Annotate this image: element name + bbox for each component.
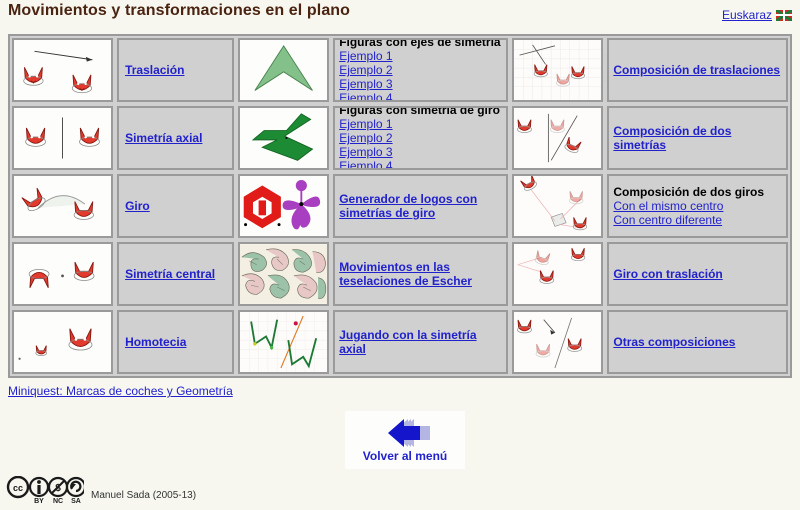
cell-text-dos-giros: Composición de dos giros Con el mismo ce…	[607, 174, 788, 238]
author-credit: Manuel Sada (2005-13)	[91, 490, 196, 504]
green-chevron-figure	[240, 40, 327, 100]
link-giro[interactable]: Giro	[125, 199, 150, 213]
table-row: Simetría axial Figuras con simetría de g…	[10, 104, 790, 172]
composition-translations-foxes	[514, 40, 601, 100]
link-traslacion[interactable]: Traslación	[125, 63, 184, 77]
cell-label-homotecia[interactable]: Homotecia	[117, 310, 234, 374]
green-arrows-axial-line	[240, 312, 327, 372]
heading-composicion-dos-giros: Composición de dos giros	[613, 185, 782, 199]
rotation-foxes-arc	[14, 176, 111, 236]
link-generador-logos[interactable]: Generador de logos con simetrías de giro	[339, 192, 502, 220]
page-title: Movimientos y transformaciones en el pla…	[8, 2, 350, 20]
link-composicion-dos-simetrias[interactable]: Composición de dos simetrías	[613, 124, 782, 152]
cell-image-generador-logos[interactable]	[238, 174, 329, 238]
link-ejemplo-1[interactable]: Ejemplo 1	[339, 49, 502, 63]
svg-text:SA: SA	[71, 498, 81, 504]
table-row: Simetría central	[10, 240, 790, 308]
link-ejemplo-2[interactable]: Ejemplo 2	[339, 63, 502, 77]
cell-text-dos-simetrias[interactable]: Composición de dos simetrías	[607, 106, 788, 170]
cell-image-giro[interactable]	[12, 174, 113, 238]
table-row: Homotecia Jugando con la simetría axial	[10, 308, 790, 376]
two-rotations-foxes	[514, 176, 601, 236]
link-ejemplo-4[interactable]: Ejemplo 4	[339, 91, 502, 102]
back-to-menu-button[interactable]: Volver al menú	[345, 411, 465, 469]
miniquest-link[interactable]: Miniquest: Marcas de coches y Geometría	[8, 384, 233, 398]
cell-image-traslacion[interactable]	[12, 38, 113, 102]
cell-label-simetria-axial[interactable]: Simetría axial	[117, 106, 234, 170]
central-symmetry-foxes	[14, 244, 111, 304]
red-logo-purple-pinwheel	[240, 176, 327, 236]
two-symmetries-foxes	[514, 108, 601, 168]
cell-text-giro-traslacion[interactable]: Giro con traslación	[607, 242, 788, 306]
creative-commons-by-nc-sa-icon[interactable]: cc $ BY NC SA	[6, 476, 84, 504]
back-to-menu-label: Volver al menú	[363, 449, 447, 463]
link-centro-diferente[interactable]: Con centro diferente	[613, 213, 782, 227]
language-switch-label: Euskaraz	[722, 8, 772, 22]
green-pinwheel-figure	[240, 108, 327, 168]
link-ejemplo-1[interactable]: Ejemplo 1	[339, 117, 502, 131]
cell-label-traslacion[interactable]: Traslación	[117, 38, 234, 102]
link-otras-composiciones[interactable]: Otras composiciones	[613, 335, 782, 349]
cell-image-otras-composiciones[interactable]	[512, 310, 603, 374]
translation-foxes-arrow	[14, 40, 111, 100]
cell-text-otras-composiciones[interactable]: Otras composiciones	[607, 310, 788, 374]
cell-text-escher[interactable]: Movimientos en las teselaciones de Esche…	[333, 242, 508, 306]
heading-figuras-ejes: Figuras con ejes de simetría	[339, 38, 502, 49]
svg-text:NC: NC	[53, 498, 63, 504]
other-compositions-foxes	[514, 312, 601, 372]
page-header: Movimientos y transformaciones en el pla…	[0, 0, 800, 30]
homothety-foxes	[14, 312, 111, 372]
link-simetria-axial[interactable]: Simetría axial	[125, 131, 202, 145]
table-row: Traslación Figuras con ejes de simetría …	[10, 36, 790, 104]
cell-text-jugando-simetria[interactable]: Jugando con la simetría axial	[333, 310, 508, 374]
cell-label-giro[interactable]: Giro	[117, 174, 234, 238]
cell-text-simetria-giro: Figuras con simetría de giro Ejemplo 1 E…	[333, 106, 508, 170]
transformations-table: Traslación Figuras con ejes de simetría …	[8, 34, 792, 378]
cell-image-simetria-giro[interactable]	[238, 106, 329, 170]
link-ejemplo-4[interactable]: Ejemplo 4	[339, 159, 502, 170]
cell-text-ejes-simetria: Figuras con ejes de simetría Ejemplo 1 E…	[333, 38, 508, 102]
cell-image-dos-simetrias[interactable]	[512, 106, 603, 170]
link-simetria-central[interactable]: Simetría central	[125, 267, 215, 281]
cell-image-composicion-traslaciones[interactable]	[512, 38, 603, 102]
license-footer: cc $ BY NC SA Manuel Sada (2005-13)	[6, 476, 196, 504]
link-jugando-simetria-axial[interactable]: Jugando con la simetría axial	[339, 328, 502, 356]
link-ejemplo-3[interactable]: Ejemplo 3	[339, 145, 502, 159]
link-teselaciones-escher[interactable]: Movimientos en las teselaciones de Esche…	[339, 260, 502, 288]
cell-image-ejes-simetria[interactable]	[238, 38, 329, 102]
cell-image-homotecia[interactable]	[12, 310, 113, 374]
link-ejemplo-2[interactable]: Ejemplo 2	[339, 131, 502, 145]
cell-image-dos-giros[interactable]	[512, 174, 603, 238]
cell-image-simetria-central[interactable]	[12, 242, 113, 306]
svg-text:BY: BY	[34, 498, 44, 504]
link-giro-con-traslacion[interactable]: Giro con traslación	[613, 267, 782, 281]
link-composicion-traslaciones[interactable]: Composición de traslaciones	[613, 63, 782, 77]
escher-lizard-tessellation	[240, 244, 327, 304]
axial-symmetry-foxes-mirror	[14, 108, 111, 168]
cell-text-generador-logos[interactable]: Generador de logos con simetrías de giro	[333, 174, 508, 238]
language-switch-link[interactable]: Euskaraz	[722, 8, 792, 22]
left-arrow-icon	[378, 418, 432, 448]
rotation-translation-foxes	[514, 244, 601, 304]
cell-image-jugando-simetria[interactable]	[238, 310, 329, 374]
heading-figuras-giro: Figuras con simetría de giro	[339, 106, 502, 117]
cell-image-escher[interactable]	[238, 242, 329, 306]
cell-label-simetria-central[interactable]: Simetría central	[117, 242, 234, 306]
link-mismo-centro[interactable]: Con el mismo centro	[613, 199, 782, 213]
basque-flag-icon	[776, 10, 792, 21]
link-ejemplo-3[interactable]: Ejemplo 3	[339, 77, 502, 91]
cell-image-giro-traslacion[interactable]	[512, 242, 603, 306]
cell-image-simetria-axial[interactable]	[12, 106, 113, 170]
table-row: Giro Generado	[10, 172, 790, 240]
link-homotecia[interactable]: Homotecia	[125, 335, 186, 349]
cell-text-composicion-traslaciones[interactable]: Composición de traslaciones	[607, 38, 788, 102]
svg-text:cc: cc	[13, 483, 23, 493]
